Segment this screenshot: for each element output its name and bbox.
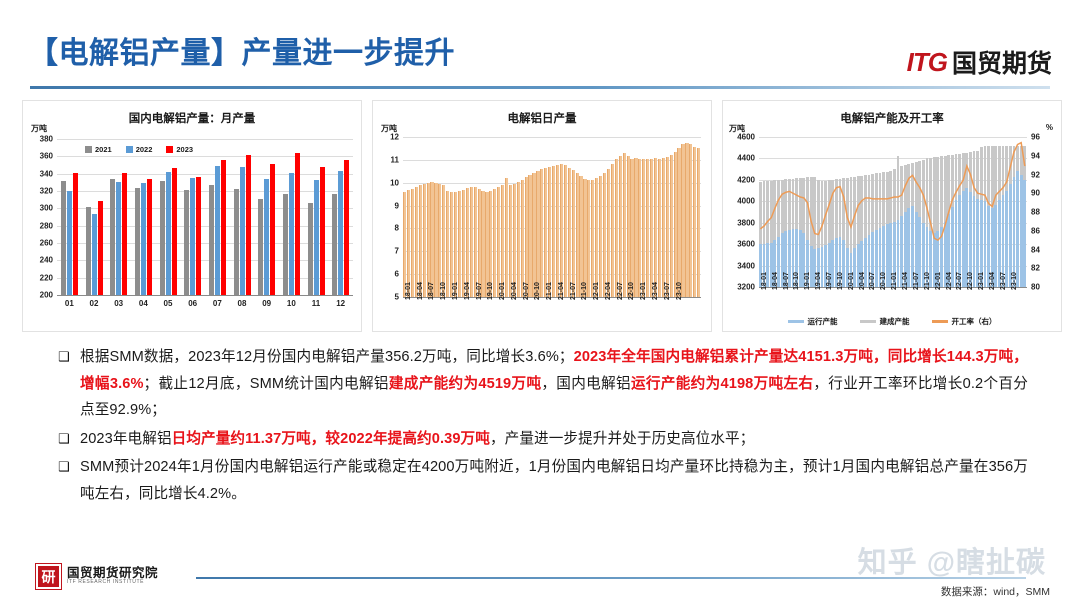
chart2-bar-64 [654, 158, 657, 297]
chart2-bar-51 [603, 173, 606, 297]
title-divider [30, 86, 1050, 89]
chart1-bar-2023-07 [221, 160, 226, 295]
chart2-bar-72 [685, 143, 688, 297]
chart3-legend-label-建成产能: 建成产能 [880, 316, 910, 327]
chart3-ytick-right: 82 [1031, 264, 1053, 273]
chart3-plot: 3200340036003800400042004400460080828486… [759, 137, 1027, 287]
bullet-marker-2: ❑ [56, 454, 80, 507]
chart2-xtick-18-04: 18-04 [417, 282, 424, 300]
chart1-bar-2021-11 [308, 203, 313, 295]
chart3-ytick-right: 88 [1031, 208, 1053, 217]
chart2-xtick-19-01: 19-01 [452, 282, 459, 300]
chart1-xtick-05: 05 [156, 299, 181, 308]
chart2-plot: 5678910111218-0118-0418-0718-1019-0119-0… [403, 137, 701, 297]
body-text-block: ❑根据SMM数据，2023年12月份国内电解铝产量356.2万吨，同比增长3.6… [56, 344, 1028, 544]
chart1-xtick-10: 10 [279, 299, 304, 308]
chart3-xtick-20-04: 20-04 [859, 272, 866, 290]
chart2-bar-74 [693, 147, 696, 297]
bullet-text-0: 根据SMM数据，2023年12月份国内电解铝产量356.2万吨，同比增长3.6%… [80, 344, 1028, 424]
chart2-bar-73 [689, 144, 692, 297]
chart2-bar-23 [493, 189, 496, 297]
chart1-title: 国内电解铝产量：月产量 [23, 110, 361, 126]
chart2-bar-37 [548, 167, 551, 297]
chart2-bar-30 [521, 180, 524, 297]
chart1-ytick: 220 [25, 273, 53, 282]
chart1-bar-2022-12 [338, 171, 343, 295]
chart3-legend-item-开工率（右）: 开工率（右） [932, 316, 997, 327]
chart2-bar-52 [607, 169, 610, 297]
chart2-xtick-21-04: 21-04 [558, 282, 565, 300]
chart1-ytick: 300 [25, 204, 53, 213]
chart2-ytick: 9 [379, 201, 399, 210]
chart2-xtick-19-07: 19-07 [476, 282, 483, 300]
chart2-bar-26 [505, 178, 508, 297]
chart1-y-unit: 万吨 [31, 123, 47, 134]
chart2-bar-35 [540, 169, 543, 297]
chart-daily-output: 电解铝日产量 万吨 5678910111218-0118-0418-0718-1… [372, 100, 712, 332]
chart1-xtick-11: 11 [304, 299, 329, 308]
chart1-xtick-12: 12 [328, 299, 353, 308]
chart2-xtick-21-01: 21-01 [546, 282, 553, 300]
chart2-bar-40 [560, 164, 563, 297]
chart3-xtick-19-10: 19-10 [837, 272, 844, 290]
chart3-xtick-18-04: 18-04 [772, 272, 779, 290]
chart1-plot: 2002202402602803003203403603800102030405… [57, 139, 353, 295]
chart2-xtick-22-04: 22-04 [605, 282, 612, 300]
chart1-bar-2022-04 [141, 183, 146, 295]
chart3-ytick-right: 96 [1031, 133, 1053, 142]
chart2-bar-18 [474, 187, 477, 297]
chart1-bar-2023-01 [73, 173, 78, 295]
chart3-xtick-22-04: 22-04 [946, 272, 953, 290]
chart2-bar-28 [513, 184, 516, 297]
chart3-xtick-22-01: 22-01 [935, 272, 942, 290]
chart1-bar-2023-02 [98, 201, 103, 295]
bullet-row: ❑SMM预计2024年1月份国内电解铝运行产能或稳定在4200万吨附近，1月份国… [56, 454, 1028, 507]
chart3-title: 电解铝产能及开工率 [723, 110, 1061, 126]
chart3-xtick-20-10: 20-10 [880, 272, 887, 290]
chart-monthly-output: 国内电解铝产量：月产量 万吨 2002202402602803003203403… [22, 100, 362, 332]
chart1-legend-label-2021: 2021 [95, 145, 112, 154]
chart3-xtick-19-04: 19-04 [815, 272, 822, 290]
chart3-ytick-right: 94 [1031, 151, 1053, 160]
bullet-0-segment-0: 根据SMM数据，2023年12月份国内电解铝产量356.2万吨，同比增长3.6%… [80, 349, 574, 365]
chart2-bar-44 [576, 173, 579, 297]
chart2-bar-25 [501, 185, 504, 297]
chart1-bar-2021-06 [184, 190, 189, 295]
chart1-legend-item-2023: 2023 [166, 145, 193, 154]
chart1-legend-label-2023: 2023 [176, 145, 193, 154]
chart2-bar-58 [630, 159, 633, 298]
chart1-xtick-07: 07 [205, 299, 230, 308]
watermark: 知乎 @瞎扯碳 [858, 539, 1046, 581]
chart1-xtick-01: 01 [57, 299, 82, 308]
chart2-ytick: 7 [379, 247, 399, 256]
page-title: 【电解铝产量】产量进一步提升 [28, 28, 455, 72]
chart1-ytick: 340 [25, 169, 53, 178]
chart2-xtick-23-04: 23-04 [652, 282, 659, 300]
chart2-xtick-18-01: 18-01 [405, 282, 412, 300]
chart3-ytick-right: 84 [1031, 245, 1053, 254]
chart1-ytick: 360 [25, 152, 53, 161]
chart3-xtick-21-07: 21-07 [913, 272, 920, 290]
chart2-bar-71 [681, 144, 684, 297]
chart1-bar-2021-08 [234, 189, 239, 295]
chart2-bar-62 [646, 159, 649, 297]
chart3-xtick-21-04: 21-04 [902, 272, 909, 290]
chart3-xtick-22-07: 22-07 [956, 272, 963, 290]
chart2-bar-5 [423, 184, 426, 297]
chart3-ytick: 4000 [727, 197, 755, 206]
chart2-xtick-20-04: 20-04 [511, 282, 518, 300]
chart1-bar-2021-12 [332, 194, 337, 295]
chart2-ytick: 5 [379, 293, 399, 302]
chart1-bar-2023-09 [270, 164, 275, 295]
chart3-xtick-23-10: 23-10 [1011, 272, 1018, 290]
chart2-xtick-21-07: 21-07 [570, 282, 577, 300]
chart2-bar-56 [623, 153, 626, 297]
brand-latin-text: ITG [907, 47, 947, 78]
chart2-xtick-21-10: 21-10 [581, 282, 588, 300]
bullet-0-segment-4: ，国内电解铝 [541, 376, 631, 392]
bullet-text-2: SMM预计2024年1月份国内电解铝运行产能或稳定在4200万吨附近，1月份国内… [80, 454, 1028, 507]
bullet-2-segment-0: SMM预计2024年1月份国内电解铝运行产能或稳定在4200万吨附近，1月份国内… [80, 459, 1028, 502]
chart2-bar-2 [411, 189, 414, 297]
chart1-bar-2022-05 [166, 172, 171, 295]
bullet-0-segment-2: ；截止12月底，SMM统计国内电解铝 [144, 376, 389, 392]
chart2-gridline [403, 137, 701, 138]
chart2-bar-38 [552, 166, 555, 297]
chart2-bar-59 [634, 158, 637, 297]
chart2-xtick-19-04: 19-04 [464, 282, 471, 300]
chart2-bar-46 [583, 179, 586, 297]
chart1-xtick-09: 09 [254, 299, 279, 308]
chart2-bar-17 [470, 187, 473, 297]
chart1-bar-2021-02 [86, 207, 91, 295]
chart3-xtick-18-01: 18-01 [761, 272, 768, 290]
brand-cn-text: 国贸期货 [952, 44, 1052, 80]
chart1-bar-2023-08 [246, 155, 251, 295]
bullet-0-segment-5: 运行产能约为4198万吨左右 [631, 376, 813, 392]
chart2-bar-43 [572, 170, 575, 297]
chart1-ytick: 280 [25, 221, 53, 230]
slide-header: 【电解铝产量】产量进一步提升 ITG 国贸期货 [0, 0, 1080, 92]
bullet-text-1: 2023年电解铝日均产量约11.37万吨，较2022年提高约0.39万吨，产量进… [80, 426, 1028, 453]
footer-logo-en: ITF RESEARCH INSTITUTE [67, 580, 158, 585]
chart1-xtick-04: 04 [131, 299, 156, 308]
chart1-xtick-03: 03 [106, 299, 131, 308]
chart1-bar-2022-08 [240, 167, 245, 295]
chart3-xtick-18-10: 18-10 [793, 272, 800, 290]
slide-root: 【电解铝产量】产量进一步提升 ITG 国贸期货 国内电解铝产量：月产量 万吨 2… [0, 0, 1080, 607]
chart2-bar-54 [615, 159, 618, 297]
chart1-bar-2023-11 [320, 167, 325, 295]
chart1-ytick: 240 [25, 256, 53, 265]
chart1-legend-item-2022: 2022 [126, 145, 153, 154]
chart1-bar-2022-02 [92, 214, 97, 295]
chart1-bar-2023-10 [295, 153, 300, 295]
chart1-legend-swatch-2023 [166, 146, 173, 153]
chart2-bar-1 [407, 190, 410, 297]
chart2-xtick-18-10: 18-10 [440, 282, 447, 300]
chart1-ytick: 200 [25, 291, 53, 300]
chart1-bar-2023-12 [344, 160, 349, 295]
chart2-bar-10 [442, 185, 445, 297]
chart2-bar-45 [579, 176, 582, 297]
chart2-bar-29 [517, 182, 520, 297]
chart3-ytick: 3600 [727, 240, 755, 249]
chart2-xtick-19-10: 19-10 [487, 282, 494, 300]
chart3-ytick: 4200 [727, 175, 755, 184]
chart1-bar-2023-03 [122, 173, 127, 295]
chart-capacity-rate: 电解铝产能及开工率 万吨 % 3200340036003800400042004… [722, 100, 1062, 332]
chart3-legend-swatch-运行产能 [788, 320, 804, 323]
chart3-ytick: 4400 [727, 154, 755, 163]
chart2-bar-47 [587, 180, 590, 297]
chart1-bar-2022-03 [116, 182, 121, 295]
charts-row: 国内电解铝产量：月产量 万吨 2002202402602803003203403… [22, 100, 1062, 332]
chart1-bar-2021-04 [135, 188, 140, 295]
chart2-ytick: 6 [379, 270, 399, 279]
chart2-title: 电解铝日产量 [373, 110, 711, 126]
slide-footer: 研 国贸期货研究院 ITF RESEARCH INSTITUTE 知乎 @瞎扯碳… [0, 549, 1080, 607]
chart3-xtick-20-07: 20-07 [869, 272, 876, 290]
chart2-xtick-18-07: 18-07 [428, 282, 435, 300]
chart3-legend-swatch-开工率（右） [932, 320, 948, 323]
chart1-legend-label-2022: 2022 [136, 145, 153, 154]
chart2-bar-7 [430, 182, 433, 297]
chart3-legend-label-开工率（右）: 开工率（右） [952, 316, 997, 327]
chart2-bar-70 [677, 148, 680, 297]
chart2-bar-15 [462, 190, 465, 297]
chart2-bar-16 [466, 188, 469, 297]
chart2-bar-19 [478, 189, 481, 297]
chart1-xtick-08: 08 [230, 299, 255, 308]
bullet-row: ❑根据SMM数据，2023年12月份国内电解铝产量356.2万吨，同比增长3.6… [56, 344, 1028, 424]
chart3-ytick-right: 92 [1031, 170, 1053, 179]
chart2-bar-27 [509, 185, 512, 297]
chart1-axis [57, 295, 353, 296]
chart2-bar-57 [627, 156, 630, 297]
chart1-legend-swatch-2022 [126, 146, 133, 153]
chart2-bar-4 [419, 185, 422, 297]
chart1-xtick-02: 02 [82, 299, 107, 308]
footer-logo-badge: 研 [36, 564, 61, 589]
chart3-y-unit-right: % [1046, 123, 1053, 132]
bullet-marker-1: ❑ [56, 426, 80, 453]
chart1-bar-2023-06 [196, 177, 201, 295]
chart3-xtick-23-01: 23-01 [978, 272, 985, 290]
chart1-ytick: 380 [25, 135, 53, 144]
chart1-bar-2021-05 [160, 181, 165, 295]
chart3-legend-swatch-建成产能 [860, 320, 876, 323]
chart2-bar-24 [497, 187, 500, 297]
chart1-bar-2021-09 [258, 199, 263, 295]
chart1-gridline [57, 174, 353, 175]
chart1-legend: 202120222023 [85, 145, 193, 154]
chart3-ytick: 3800 [727, 218, 755, 227]
chart2-xtick-20-07: 20-07 [523, 282, 530, 300]
chart3-legend: 运行产能建成产能开工率（右） [723, 316, 1061, 327]
chart2-bar-33 [532, 173, 535, 297]
chart1-bar-2021-07 [209, 185, 214, 295]
chart2-xtick-20-01: 20-01 [499, 282, 506, 300]
chart1-ytick: 320 [25, 187, 53, 196]
chart2-bar-6 [427, 183, 430, 297]
chart2-bar-75 [697, 148, 700, 297]
chart2-bar-41 [564, 165, 567, 297]
chart1-bar-2022-07 [215, 166, 220, 295]
chart1-bar-2022-10 [289, 173, 294, 295]
chart3-xtick-21-10: 21-10 [924, 272, 931, 290]
chart2-bar-34 [536, 171, 539, 297]
source-note: 数据来源：wind，SMM [941, 584, 1050, 599]
bullet-marker-0: ❑ [56, 344, 80, 424]
footer-divider [196, 577, 1026, 579]
chart1-legend-swatch-2021 [85, 146, 92, 153]
chart2-bar-66 [662, 158, 665, 297]
chart3-xtick-22-10: 22-10 [967, 272, 974, 290]
chart2-bar-68 [670, 155, 673, 297]
chart2-bar-36 [544, 168, 547, 297]
chart2-bar-9 [438, 184, 441, 297]
chart1-bar-2022-06 [190, 178, 195, 295]
chart1-bar-2021-03 [110, 179, 115, 295]
footer-logo: 研 国贸期货研究院 ITF RESEARCH INSTITUTE [36, 564, 158, 589]
bullet-1-segment-1: 日均产量约11.37万吨，较2022年提高约0.39万吨 [172, 431, 490, 447]
chart3-xtick-20-01: 20-01 [848, 272, 855, 290]
chart2-bar-31 [525, 177, 528, 297]
chart2-bar-48 [591, 180, 594, 297]
chart1-bar-2022-01 [67, 191, 72, 295]
chart3-legend-item-建成产能: 建成产能 [860, 316, 910, 327]
chart2-xtick-23-01: 23-01 [640, 282, 647, 300]
chart2-bar-49 [595, 178, 598, 297]
chart2-bar-42 [568, 168, 571, 297]
chart2-xtick-20-10: 20-10 [534, 282, 541, 300]
chart2-bar-39 [556, 165, 559, 297]
bullet-row: ❑2023年电解铝日均产量约11.37万吨，较2022年提高约0.39万吨，产量… [56, 426, 1028, 453]
chart2-bar-50 [599, 176, 602, 297]
chart2-bar-65 [658, 159, 661, 298]
chart3-xtick-19-01: 19-01 [804, 272, 811, 290]
chart3-ytick-right: 86 [1031, 226, 1053, 235]
chart2-xtick-23-07: 23-07 [664, 282, 671, 300]
chart1-bar-2023-05 [172, 168, 177, 295]
chart3-legend-item-运行产能: 运行产能 [788, 316, 838, 327]
chart2-ytick: 11 [379, 155, 399, 164]
chart1-bar-2021-10 [283, 194, 288, 295]
chart3-rate-line [759, 137, 1027, 287]
chart1-legend-item-2021: 2021 [85, 145, 112, 154]
chart3-xtick-18-07: 18-07 [783, 272, 790, 290]
chart1-ytick: 260 [25, 239, 53, 248]
chart2-bar-8 [434, 183, 437, 297]
chart2-xtick-23-10: 23-10 [676, 282, 683, 300]
chart1-bar-2021-01 [61, 181, 66, 295]
bullet-0-segment-3: 建成产能约为4519万吨 [389, 376, 542, 392]
chart2-bar-53 [611, 164, 614, 297]
chart2-bar-69 [674, 152, 677, 297]
brand-logo: ITG 国贸期货 [907, 44, 1052, 80]
chart3-ytick: 3400 [727, 261, 755, 270]
bullet-1-segment-0: 2023年电解铝 [80, 431, 172, 447]
chart2-xtick-22-10: 22-10 [628, 282, 635, 300]
chart1-gridline [57, 191, 353, 192]
chart1-bar-2022-09 [264, 179, 269, 295]
chart2-bar-32 [528, 175, 531, 297]
chart3-xtick-23-04: 23-04 [989, 272, 996, 290]
chart1-bar-2022-11 [314, 180, 319, 295]
chart1-bar-2023-04 [147, 179, 152, 295]
chart1-gridline [57, 156, 353, 157]
chart2-ytick: 8 [379, 224, 399, 233]
bullet-1-segment-2: ，产量进一步提升并处于历史高位水平； [490, 431, 755, 447]
chart1-gridline [57, 139, 353, 140]
chart3-xtick-23-07: 23-07 [1000, 272, 1007, 290]
chart2-bar-61 [642, 159, 645, 297]
chart2-bar-3 [415, 187, 418, 297]
chart3-ytick: 4600 [727, 133, 755, 142]
chart3-ytick-right: 80 [1031, 283, 1053, 292]
chart2-xtick-22-07: 22-07 [617, 282, 624, 300]
chart2-bar-63 [650, 159, 653, 298]
chart3-ytick-right: 90 [1031, 189, 1053, 198]
chart3-xtick-21-01: 21-01 [891, 272, 898, 290]
chart2-ytick: 12 [379, 133, 399, 142]
chart3-xtick-19-07: 19-07 [826, 272, 833, 290]
chart3-legend-label-运行产能: 运行产能 [808, 316, 838, 327]
footer-logo-text: 国贸期货研究院 ITF RESEARCH INSTITUTE [67, 567, 158, 585]
chart2-ytick: 10 [379, 178, 399, 187]
chart3-ytick: 3200 [727, 283, 755, 292]
chart2-bar-60 [638, 159, 641, 298]
chart2-xtick-22-01: 22-01 [593, 282, 600, 300]
chart1-xtick-06: 06 [180, 299, 205, 308]
chart2-bar-55 [619, 156, 622, 297]
chart2-bar-67 [666, 157, 669, 297]
